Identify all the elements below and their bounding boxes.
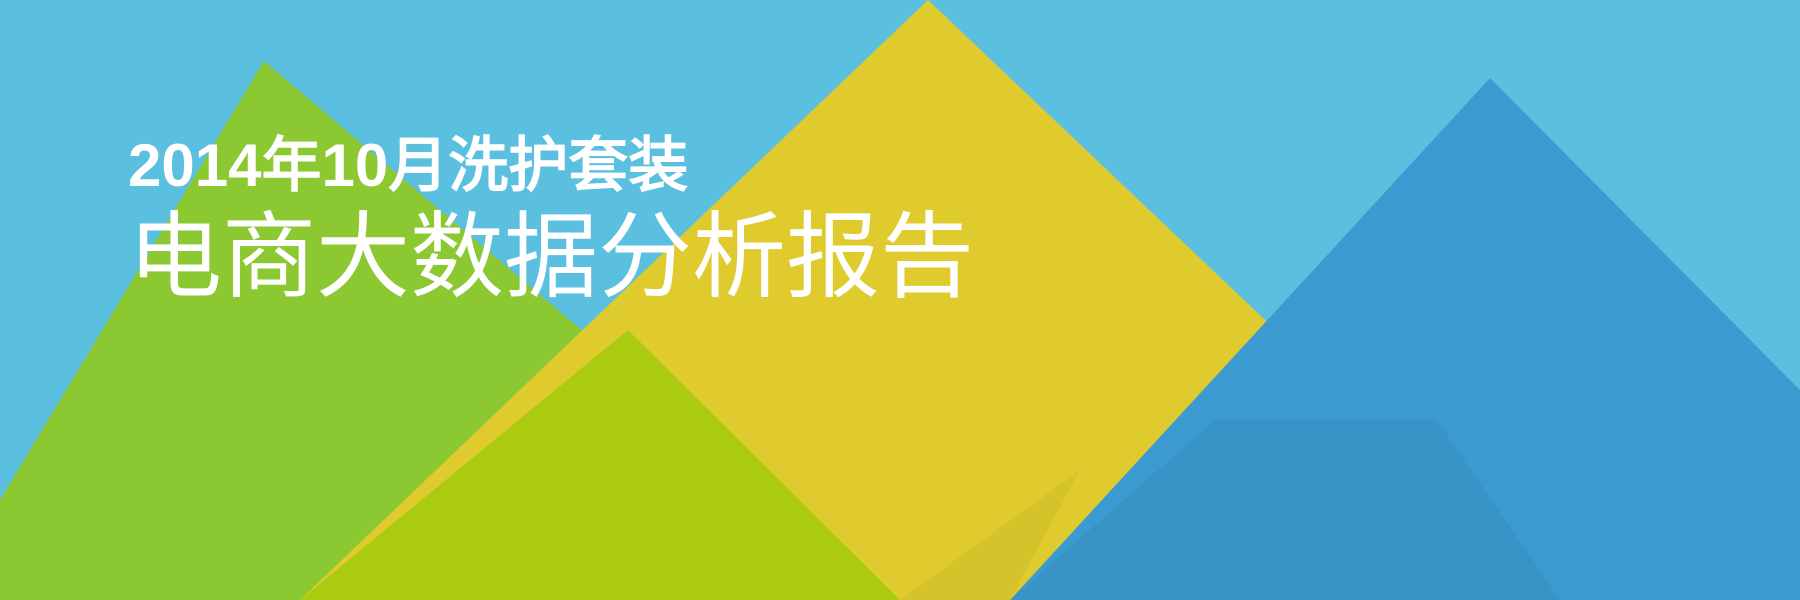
report-title-line: 电商大数据分析报告 — [128, 210, 974, 304]
report-cover-banner: 2014年10月洗护套装 电商大数据分析报告 — [0, 0, 1800, 600]
title-block: 2014年10月洗护套装 电商大数据分析报告 — [128, 136, 974, 304]
report-subtitle-line: 2014年10月洗护套装 — [128, 136, 974, 196]
